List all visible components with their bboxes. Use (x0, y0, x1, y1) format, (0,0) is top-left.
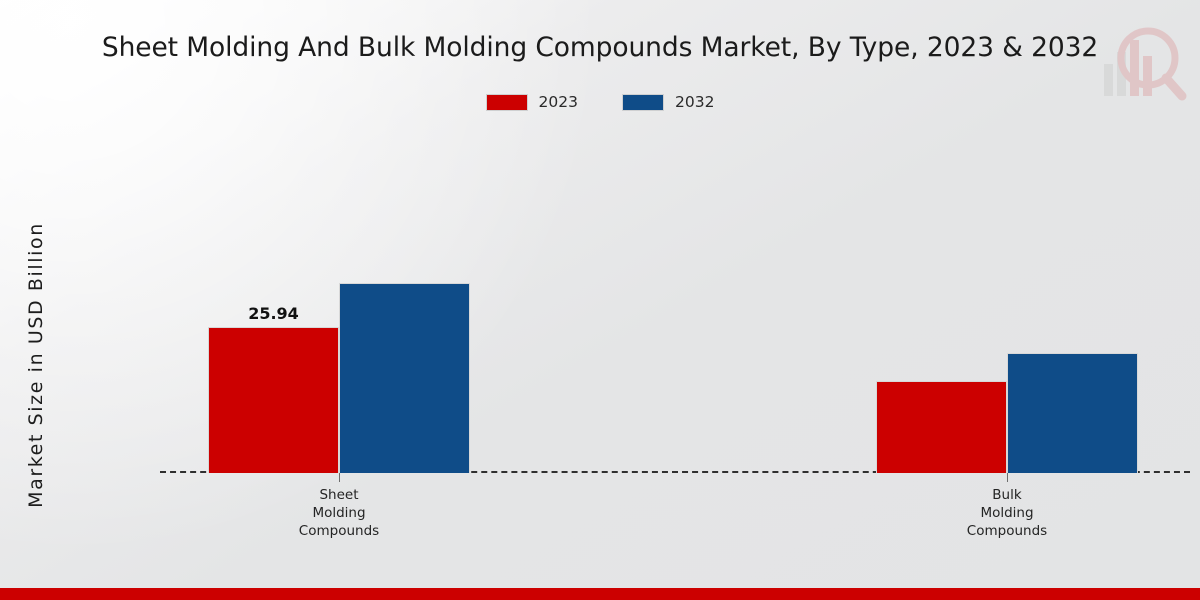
category-label-sheet-molding-compounds: Sheet Molding Compounds (189, 486, 489, 540)
legend-label-2023: 2023 (539, 93, 578, 111)
bar-groups: 25.94 Sheet Molding Compounds Bulk Moldi… (160, 150, 1190, 473)
bar-value-sheet-molding-compounds-2023: 25.94 (248, 304, 299, 323)
plot-area: 25.94 Sheet Molding Compounds Bulk Moldi… (160, 150, 1190, 473)
category-label-line-3: Compounds (857, 522, 1157, 540)
x-axis-tick-bulk (1007, 473, 1008, 482)
category-label-bulk-molding-compounds: Bulk Molding Compounds (857, 486, 1157, 540)
legend-swatch-2032 (622, 94, 664, 111)
category-label-line-3: Compounds (189, 522, 489, 540)
category-label-line-2: Molding (857, 504, 1157, 522)
footer-accent-bar (0, 588, 1200, 600)
bar-group-sheet-molding-compounds: 25.94 (208, 150, 470, 473)
category-label-line-1: Bulk (857, 486, 1157, 504)
category-label-line-2: Molding (189, 504, 489, 522)
chart-container: Sheet Molding And Bulk Molding Compounds… (0, 0, 1200, 600)
legend-swatch-2023 (486, 94, 528, 111)
bar-sheet-molding-compounds-2032[interactable] (339, 283, 470, 473)
category-label-line-1: Sheet (189, 486, 489, 504)
bar-bulk-molding-compounds-2023[interactable] (876, 381, 1007, 473)
legend-item-2023[interactable]: 2023 (486, 93, 578, 111)
bar-sheet-molding-compounds-2023[interactable]: 25.94 (208, 327, 339, 473)
legend-label-2032: 2032 (675, 93, 714, 111)
chart-title: Sheet Molding And Bulk Molding Compounds… (0, 32, 1200, 63)
legend-item-2032[interactable]: 2032 (622, 93, 714, 111)
bar-bulk-molding-compounds-2032[interactable] (1007, 353, 1138, 473)
chart-legend: 2023 2032 (0, 93, 1200, 111)
y-axis-title-text: Market Size in USD Billion (25, 222, 47, 508)
y-axis-title: Market Size in USD Billion (21, 185, 51, 545)
x-axis-tick-sheet (339, 473, 340, 482)
bar-group-bulk-molding-compounds (876, 150, 1138, 473)
